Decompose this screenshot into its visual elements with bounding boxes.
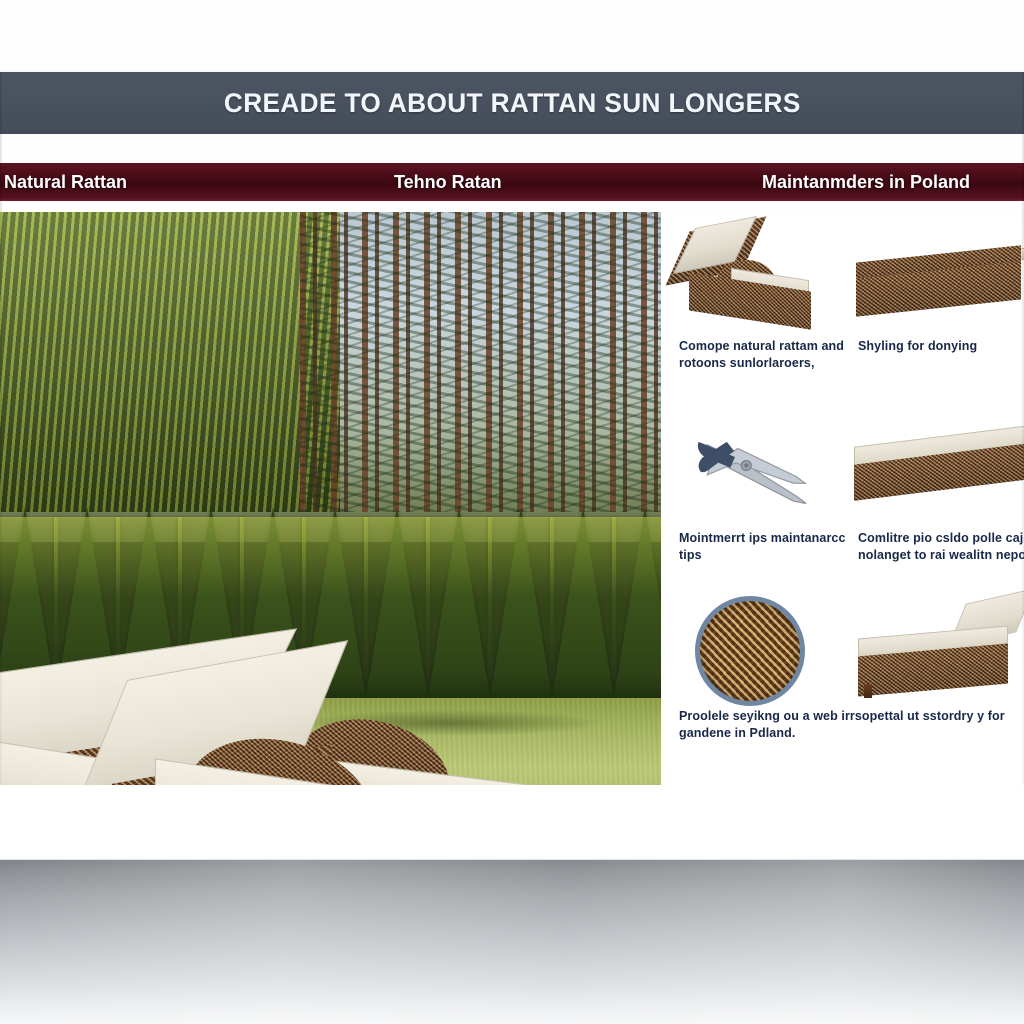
rattan-sun-lounger-icon bbox=[848, 590, 1019, 700]
hero-image bbox=[0, 212, 661, 785]
nav-item-natural-rattan[interactable]: Natural Rattan bbox=[0, 170, 131, 195]
page-root: CREADE TO ABOUT RATTAN SUN LONGERS Natur… bbox=[0, 0, 1024, 1024]
pliers-icon bbox=[669, 412, 840, 522]
rattan-weave-closeup-icon bbox=[669, 590, 840, 700]
rattan-cushion-slab-icon bbox=[848, 412, 1019, 522]
page-left-edge bbox=[0, 72, 2, 860]
page-title: CREADE TO ABOUT RATTAN SUN LONGERS bbox=[224, 88, 801, 119]
thumbnail-row-1: Comope natural rattam and rotoons sunlor… bbox=[665, 220, 1024, 400]
nav-item-tehno-ratan[interactable]: Tehno Ratan bbox=[390, 170, 506, 195]
top-margin bbox=[0, 0, 1024, 72]
rattan-chaise-lounger-icon bbox=[669, 220, 840, 330]
sidebar-thumbnail-grid: Comope natural rattam and rotoons sunlor… bbox=[665, 212, 1024, 785]
thumbnail-row-2: Mointmerrt ips maintanarcc tips Comlitre… bbox=[665, 412, 1024, 572]
thumbnail-caption: Comope natural rattam and rotoons sunlor… bbox=[679, 338, 859, 372]
hero-sun-lounger-center bbox=[95, 660, 565, 785]
nav-content-spacer bbox=[0, 201, 1024, 212]
list-item[interactable]: Shyling for donying bbox=[844, 220, 1023, 400]
main-navigation[interactable]: Natural Rattan Tehno Ratan Maintanmders … bbox=[0, 163, 1024, 201]
list-item[interactable]: Proolele seyikng ou a web irrsopettal ut… bbox=[665, 590, 844, 780]
thumbnail-caption: Mointmerrt ips maintanarcc tips bbox=[679, 530, 859, 564]
list-item[interactable]: Comope natural rattam and rotoons sunlor… bbox=[665, 220, 844, 400]
thumbnail-caption: Shyling for donying bbox=[858, 338, 1024, 355]
thumbnail-caption: Comlitre pio csldo polle cajore nolanget… bbox=[858, 530, 1024, 564]
list-item[interactable]: Comlitre pio csldo polle cajore nolanget… bbox=[844, 412, 1023, 572]
header-nav-spacer bbox=[0, 134, 1024, 163]
list-item[interactable] bbox=[844, 590, 1023, 780]
page-reflection-sheen bbox=[0, 860, 1024, 1024]
page-bottom-margin bbox=[0, 785, 1024, 860]
list-item[interactable]: Mointmerrt ips maintanarcc tips bbox=[665, 412, 844, 572]
header-banner: CREADE TO ABOUT RATTAN SUN LONGERS bbox=[0, 72, 1024, 134]
thumbnail-row-3: Proolele seyikng ou a web irrsopettal ut… bbox=[665, 590, 1024, 780]
rattan-daybed-base-icon bbox=[848, 220, 1019, 330]
nav-item-maintanmders-in-poland[interactable]: Maintanmders in Poland bbox=[758, 170, 974, 195]
